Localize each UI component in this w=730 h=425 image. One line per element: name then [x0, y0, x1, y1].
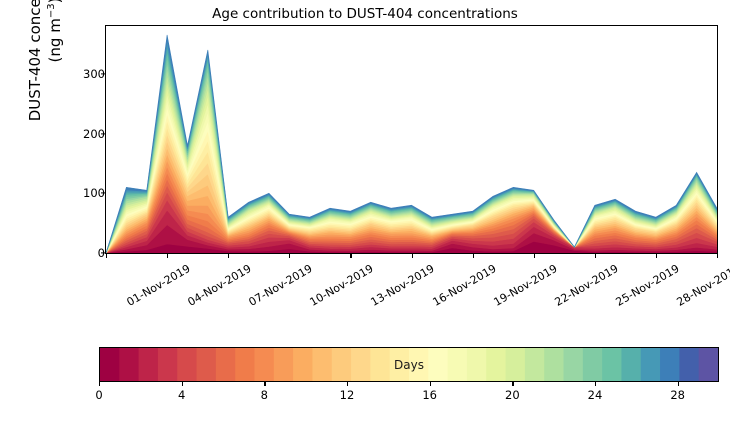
x-tick-label: 22-Nov-2019 — [552, 262, 620, 309]
colorbar-band — [660, 348, 680, 381]
colorbar-band — [602, 348, 622, 381]
colorbar-tick-mark — [595, 382, 596, 386]
colorbar-band — [390, 348, 410, 381]
x-tick-label: 25-Nov-2019 — [613, 262, 681, 309]
colorbar — [99, 347, 719, 382]
y-axis-label-line1: DUST-404 concentration — [23, 0, 47, 151]
y-tick-label: 100 — [65, 186, 105, 200]
colorbar-tick-label: 4 — [178, 388, 185, 402]
y-axis: 0100200300 — [57, 25, 105, 254]
x-tick-label: 10-Nov-2019 — [308, 262, 376, 309]
colorbar-tick-mark — [99, 382, 100, 386]
colorbar-band — [621, 348, 641, 381]
colorbar-band — [486, 348, 506, 381]
colorbar-band — [312, 348, 332, 381]
colorbar-band — [235, 348, 255, 381]
colorbar-band — [100, 348, 120, 381]
colorbar-band — [177, 348, 197, 381]
colorbar-tick-label: 16 — [422, 388, 437, 402]
y-tick-label: 300 — [65, 67, 105, 81]
x-tick-label: 16-Nov-2019 — [430, 262, 498, 309]
x-tick-label: 19-Nov-2019 — [491, 262, 559, 309]
colorbar-tick-mark — [430, 382, 431, 386]
x-tick-label: 07-Nov-2019 — [247, 262, 315, 309]
colorbar-band — [158, 348, 178, 381]
chart-title: Age contribution to DUST-404 concentrati… — [0, 6, 730, 22]
colorbar-band — [216, 348, 236, 381]
colorbar-band — [409, 348, 429, 381]
colorbar-tick-label: 8 — [261, 388, 268, 402]
x-tick-label: 01-Nov-2019 — [125, 262, 193, 309]
colorbar-tick-mark — [182, 382, 183, 386]
colorbar-band — [544, 348, 564, 381]
colorbar-band — [525, 348, 545, 381]
plot-area — [105, 25, 718, 254]
colorbar-band — [274, 348, 294, 381]
y-tick-label: 200 — [65, 127, 105, 141]
colorbar-band — [679, 348, 699, 381]
colorbar-band — [139, 348, 159, 381]
colorbar-band — [428, 348, 448, 381]
colorbar-tick-label: 0 — [95, 388, 102, 402]
colorbar-band — [641, 348, 661, 381]
colorbar-band — [506, 348, 526, 381]
colorbar-band — [351, 348, 371, 381]
colorbar-tick-label: 20 — [505, 388, 520, 402]
colorbar-tick-label: 12 — [340, 388, 355, 402]
colorbar-tick-mark — [347, 382, 348, 386]
colorbar-band — [197, 348, 217, 381]
colorbar-tick-mark — [678, 382, 679, 386]
x-axis-tick-labels: 01-Nov-201904-Nov-201907-Nov-201910-Nov-… — [0, 258, 730, 328]
colorbar-gradient — [100, 348, 718, 381]
colorbar-tick-labels: 0481216202428 — [0, 388, 730, 408]
stacked-area-series-group — [106, 26, 717, 253]
colorbar-band — [699, 348, 718, 381]
colorbar-band — [332, 348, 352, 381]
colorbar-tick-mark — [512, 382, 513, 386]
chart-figure: Age contribution to DUST-404 concentrati… — [0, 0, 730, 425]
colorbar-band — [119, 348, 139, 381]
colorbar-tick-mark — [264, 382, 265, 386]
x-tick-label: 28-Nov-2019 — [674, 262, 730, 309]
x-tick-label: 04-Nov-2019 — [186, 262, 254, 309]
colorbar-band — [564, 348, 584, 381]
colorbar-band — [255, 348, 275, 381]
x-tick-label: 13-Nov-2019 — [369, 262, 437, 309]
colorbar-band — [467, 348, 487, 381]
colorbar-band — [370, 348, 390, 381]
colorbar-band — [293, 348, 313, 381]
colorbar-tick-label: 24 — [588, 388, 603, 402]
colorbar-band — [448, 348, 468, 381]
colorbar-band — [583, 348, 603, 381]
colorbar-tick-label: 28 — [670, 388, 685, 402]
